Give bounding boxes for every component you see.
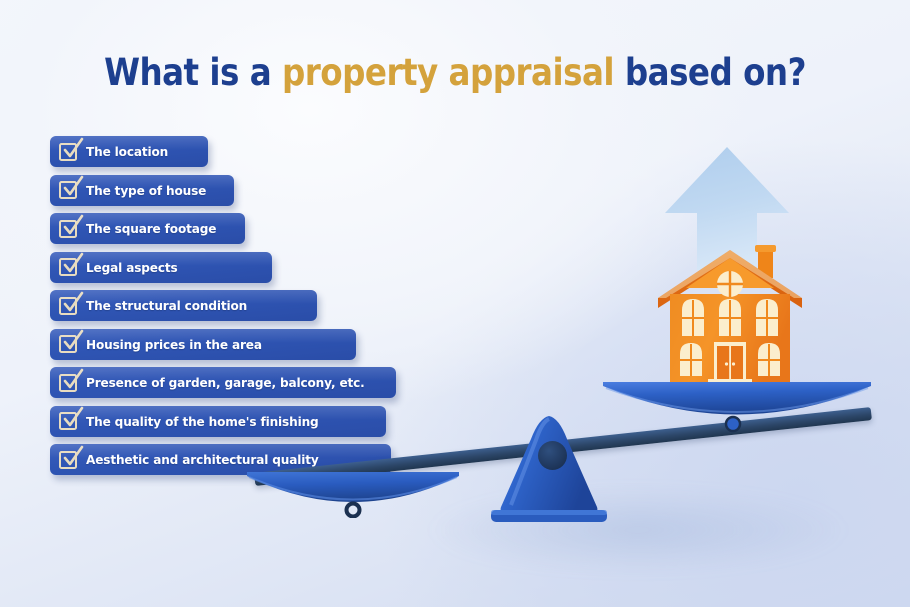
checklist-item[interactable]: The square footage	[50, 213, 396, 244]
checklist-item-label: The type of house	[86, 183, 206, 198]
checklist-item[interactable]: The quality of the home's finishing	[50, 406, 396, 437]
scale-dish-right-icon	[601, 381, 873, 433]
checkbox-checked-icon[interactable]	[59, 451, 77, 469]
house-icon	[652, 236, 808, 388]
infographic-canvas: What is a property appraisal based on? T…	[0, 0, 910, 607]
title-highlight: property appraisal	[282, 51, 614, 94]
checklist-item-label: Aesthetic and architectural quality	[86, 452, 319, 467]
title-part-1: What is a	[104, 51, 282, 94]
checklist-item[interactable]: Legal aspects	[50, 252, 396, 283]
checklist-item-label: Housing prices in the area	[86, 337, 262, 352]
checkbox-checked-icon[interactable]	[59, 181, 77, 199]
checklist-item-label: Presence of garden, garage, balcony, etc…	[86, 375, 365, 390]
checklist-item-label: The square footage	[86, 221, 216, 236]
title-part-2: based on?	[614, 51, 806, 94]
checkbox-checked-icon[interactable]	[59, 297, 77, 315]
up-arrow-icon	[663, 145, 791, 270]
checklist-item-bar[interactable]: The square footage	[50, 213, 245, 244]
checkbox-checked-icon[interactable]	[59, 220, 77, 238]
checklist-item-bar[interactable]: The quality of the home's finishing	[50, 406, 386, 437]
checklist-item-bar[interactable]: The location	[50, 136, 208, 167]
checklist-item[interactable]: Aesthetic and architectural quality	[50, 444, 396, 475]
checkbox-checked-icon[interactable]	[59, 143, 77, 161]
checklist-item-bar[interactable]: The structural condition	[50, 290, 317, 321]
scale-pivot-icon	[538, 441, 567, 470]
checklist-item-bar[interactable]: Presence of garden, garage, balcony, etc…	[50, 367, 396, 398]
criteria-checklist: The locationThe type of houseThe square …	[50, 136, 396, 483]
checklist-item[interactable]: The structural condition	[50, 290, 396, 321]
floor-shadow	[430, 470, 910, 607]
checkbox-checked-icon[interactable]	[59, 258, 77, 276]
checklist-item[interactable]: Housing prices in the area	[50, 329, 396, 360]
checkbox-checked-icon[interactable]	[59, 335, 77, 353]
checklist-item-bar[interactable]: Housing prices in the area	[50, 329, 356, 360]
checklist-item-bar[interactable]: The type of house	[50, 175, 234, 206]
checklist-item[interactable]: The type of house	[50, 175, 396, 206]
checkbox-checked-icon[interactable]	[59, 374, 77, 392]
checklist-item-bar[interactable]: Aesthetic and architectural quality	[50, 444, 391, 475]
checklist-item-label: The quality of the home's finishing	[86, 414, 319, 429]
checklist-item-label: Legal aspects	[86, 260, 178, 275]
checkbox-checked-icon[interactable]	[59, 412, 77, 430]
checklist-item-label: The structural condition	[86, 298, 247, 313]
page-title: What is a property appraisal based on?	[55, 53, 856, 94]
checklist-item-label: The location	[86, 144, 168, 159]
checklist-item-bar[interactable]: Legal aspects	[50, 252, 272, 283]
checklist-item[interactable]: Presence of garden, garage, balcony, etc…	[50, 367, 396, 398]
checklist-item[interactable]: The location	[50, 136, 396, 167]
